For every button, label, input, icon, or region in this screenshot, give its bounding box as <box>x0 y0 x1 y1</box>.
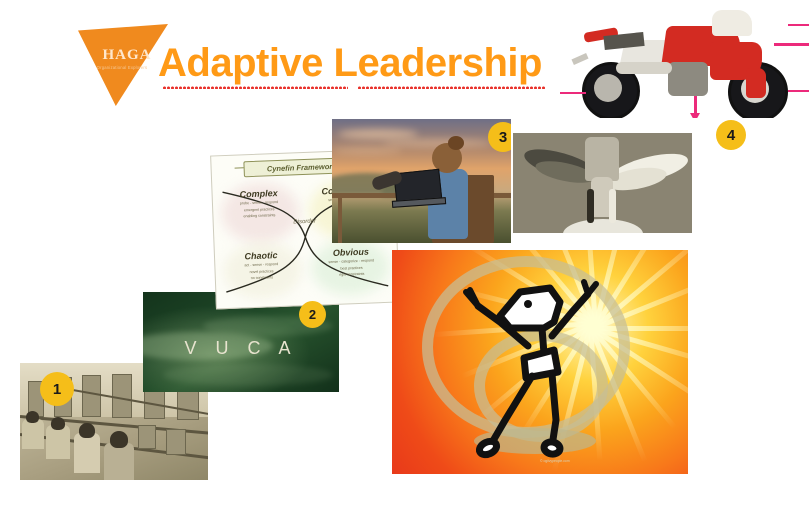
annotation-arrowhead <box>690 113 700 118</box>
moto-engine <box>668 62 708 96</box>
badge-4[interactable]: 4 <box>716 120 746 150</box>
page-title: Adaptive Leadership <box>158 41 542 86</box>
factory-worker-body <box>46 425 70 459</box>
spellcheck-underline-1 <box>163 85 348 89</box>
sunset-cloud <box>338 129 418 139</box>
logo-name: HAGA <box>96 48 158 63</box>
moto-rear-rim <box>594 74 622 102</box>
slide-canvas: HAGA Organizational Explorers Adaptive L… <box>0 0 809 506</box>
factory-worker-body <box>104 443 134 480</box>
cynefin-quadrant-chaotic: Chaotic act - sense - respond novel prac… <box>220 249 303 282</box>
factory-worker-body <box>22 419 44 449</box>
badge-3[interactable]: 3 <box>488 122 511 152</box>
factory-worker-head <box>110 431 128 448</box>
annotation-arrow <box>788 24 809 26</box>
sculpture-base <box>563 219 643 233</box>
image-motorcycle[interactable] <box>560 0 809 118</box>
badge-1[interactable]: 1 <box>40 372 74 406</box>
image-sculpture-rider[interactable] <box>513 133 692 233</box>
sculpture-leg-dark <box>587 189 594 223</box>
moto-front-fender <box>746 68 766 98</box>
badge-2[interactable]: 2 <box>299 301 326 328</box>
annotation-arrow <box>788 90 809 92</box>
stick-figure-icon <box>392 250 688 474</box>
image-credit: © ogilvypeople.com <box>540 459 570 463</box>
quadrant-title: Complex <box>217 187 299 200</box>
factory-worker-head <box>79 423 95 438</box>
spellcheck-underline-2 <box>358 85 545 89</box>
sunset-cloud <box>332 147 402 154</box>
annotation-arrow <box>560 92 586 94</box>
vuca-wave <box>163 364 333 386</box>
cynefin-quadrant-complex: Complex probe - sense - respond emergent… <box>217 187 300 220</box>
quadrant-title: Chaotic <box>220 249 302 262</box>
moto-windscreen <box>712 10 752 36</box>
factory-worker-head <box>51 417 65 430</box>
vuca-label: V U C A <box>143 338 339 359</box>
logo-subtitle: Organizational Explorers <box>92 65 152 70</box>
cynefin-quadrant-obvious: Obvious sense - categorize - respond bes… <box>310 246 393 279</box>
moto-exhaust <box>616 62 672 74</box>
image-starburst-figure[interactable]: © ogilvypeople.com <box>392 250 688 474</box>
sculpture-rider <box>585 137 619 181</box>
person-hair-bun <box>448 136 464 150</box>
deck-post <box>338 195 342 243</box>
quadrant-title: Obvious <box>310 246 392 259</box>
sculpture-leg-light <box>609 189 616 223</box>
factory-worker-head <box>26 411 39 423</box>
annotation-arrow <box>774 43 809 46</box>
factory-machine <box>138 425 156 449</box>
factory-worker-body <box>74 433 100 473</box>
factory-machine <box>166 429 186 455</box>
moto-rear-signal <box>571 53 588 65</box>
factory-machine <box>82 375 101 417</box>
image-sunset-laptop[interactable]: 3 <box>332 119 511 243</box>
haga-logo: HAGA Organizational Explorers <box>78 24 168 106</box>
cynefin-banner-tick <box>235 167 244 168</box>
